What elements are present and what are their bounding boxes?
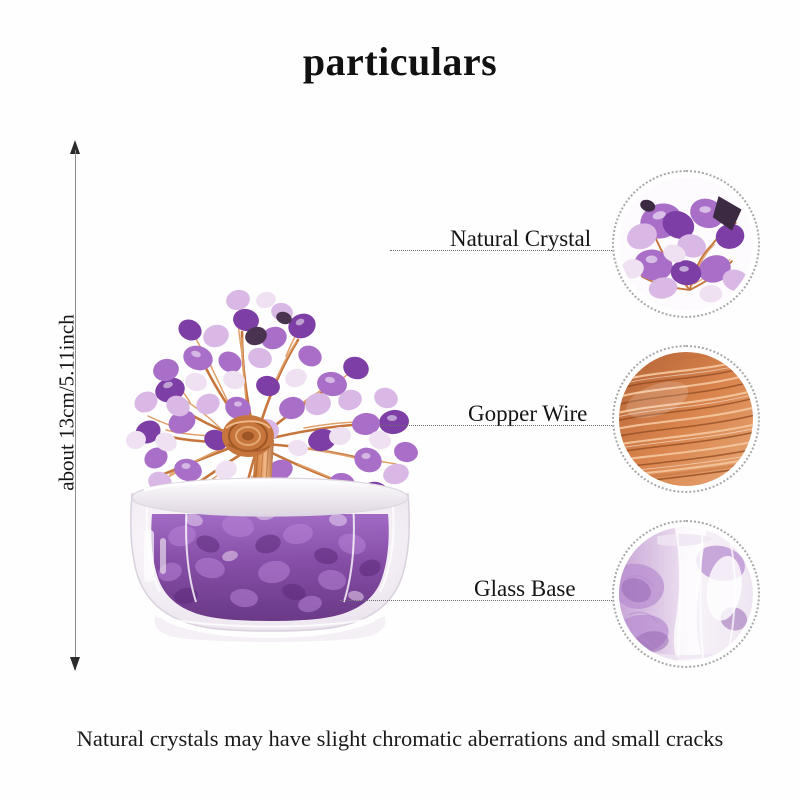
callout-glass-base: Glass Base — [440, 520, 760, 670]
callout-label-natural-crystal: Natural Crystal — [450, 226, 591, 252]
callout-label-glass-base: Glass Base — [474, 576, 576, 602]
product-image-crystal-tree — [70, 140, 470, 680]
footnote-disclaimer: Natural crystals may have slight chromat… — [0, 726, 800, 752]
detail-circle-glass-base[interactable] — [612, 520, 760, 668]
callout-copper-wire: Gopper Wire — [440, 345, 760, 495]
page-title: particulars — [0, 38, 800, 85]
detail-image-copper-strands — [619, 352, 753, 486]
detail-circle-natural-crystal[interactable] — [612, 170, 760, 318]
callout-label-copper-wire: Gopper Wire — [468, 401, 587, 427]
detail-image-glass-base — [619, 527, 753, 661]
leader-line-natural-crystal — [390, 250, 620, 251]
detail-circle-copper-wire[interactable] — [612, 345, 760, 493]
callout-natural-crystal: Natural Crystal — [440, 170, 760, 320]
detail-image-crystal-chips — [619, 177, 753, 311]
leader-line-copper-wire — [380, 425, 620, 426]
leader-line-glass-base — [340, 600, 618, 601]
infographic-canvas: particulars about 13cm/5.11inch — [0, 0, 800, 800]
